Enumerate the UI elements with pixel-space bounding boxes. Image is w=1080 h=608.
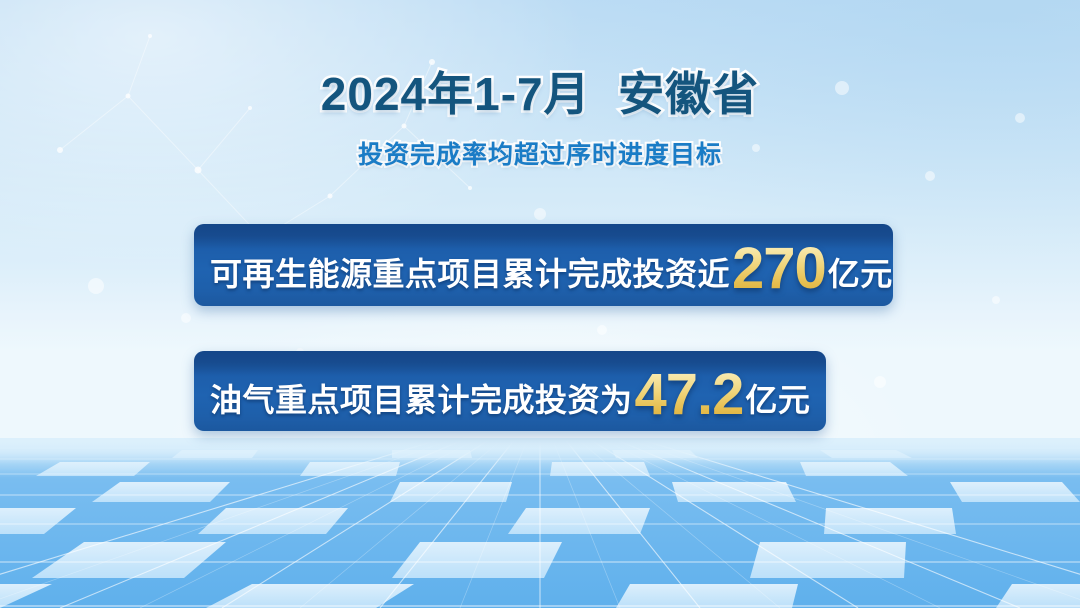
stat-value: 270 xyxy=(730,235,828,302)
stat-bar-content: 可再生能源重点项目累计完成投资近 270 亿元 xyxy=(194,232,893,299)
floor-tiles xyxy=(0,438,1080,608)
stat-bar-renewable-energy: 可再生能源重点项目累计完成投资近 270 亿元 xyxy=(194,224,893,306)
headline-block: 2024年1-7月 安徽省 投资完成率均超过序时进度目标 xyxy=(0,66,1080,170)
stat-value: 47.2 xyxy=(633,361,746,428)
stat-label: 可再生能源重点项目累计完成投资近 xyxy=(210,249,730,295)
stat-unit: 亿元 xyxy=(828,249,893,295)
perspective-grid-floor xyxy=(0,438,1080,608)
stat-bar-content: 油气重点项目累计完成投资为 47.2 亿元 xyxy=(194,358,810,425)
stat-bar-oil-and-gas: 油气重点项目累计完成投资为 47.2 亿元 xyxy=(194,351,826,431)
stat-unit: 亿元 xyxy=(745,375,810,421)
infographic-slide: 2024年1-7月 安徽省 投资完成率均超过序时进度目标 可再生能源重点项目累计… xyxy=(0,0,1080,608)
page-title: 2024年1-7月 安徽省 xyxy=(0,66,1080,124)
stat-label: 油气重点项目累计完成投资为 xyxy=(210,375,633,421)
page-subtitle: 投资完成率均超过序时进度目标 xyxy=(0,140,1080,170)
